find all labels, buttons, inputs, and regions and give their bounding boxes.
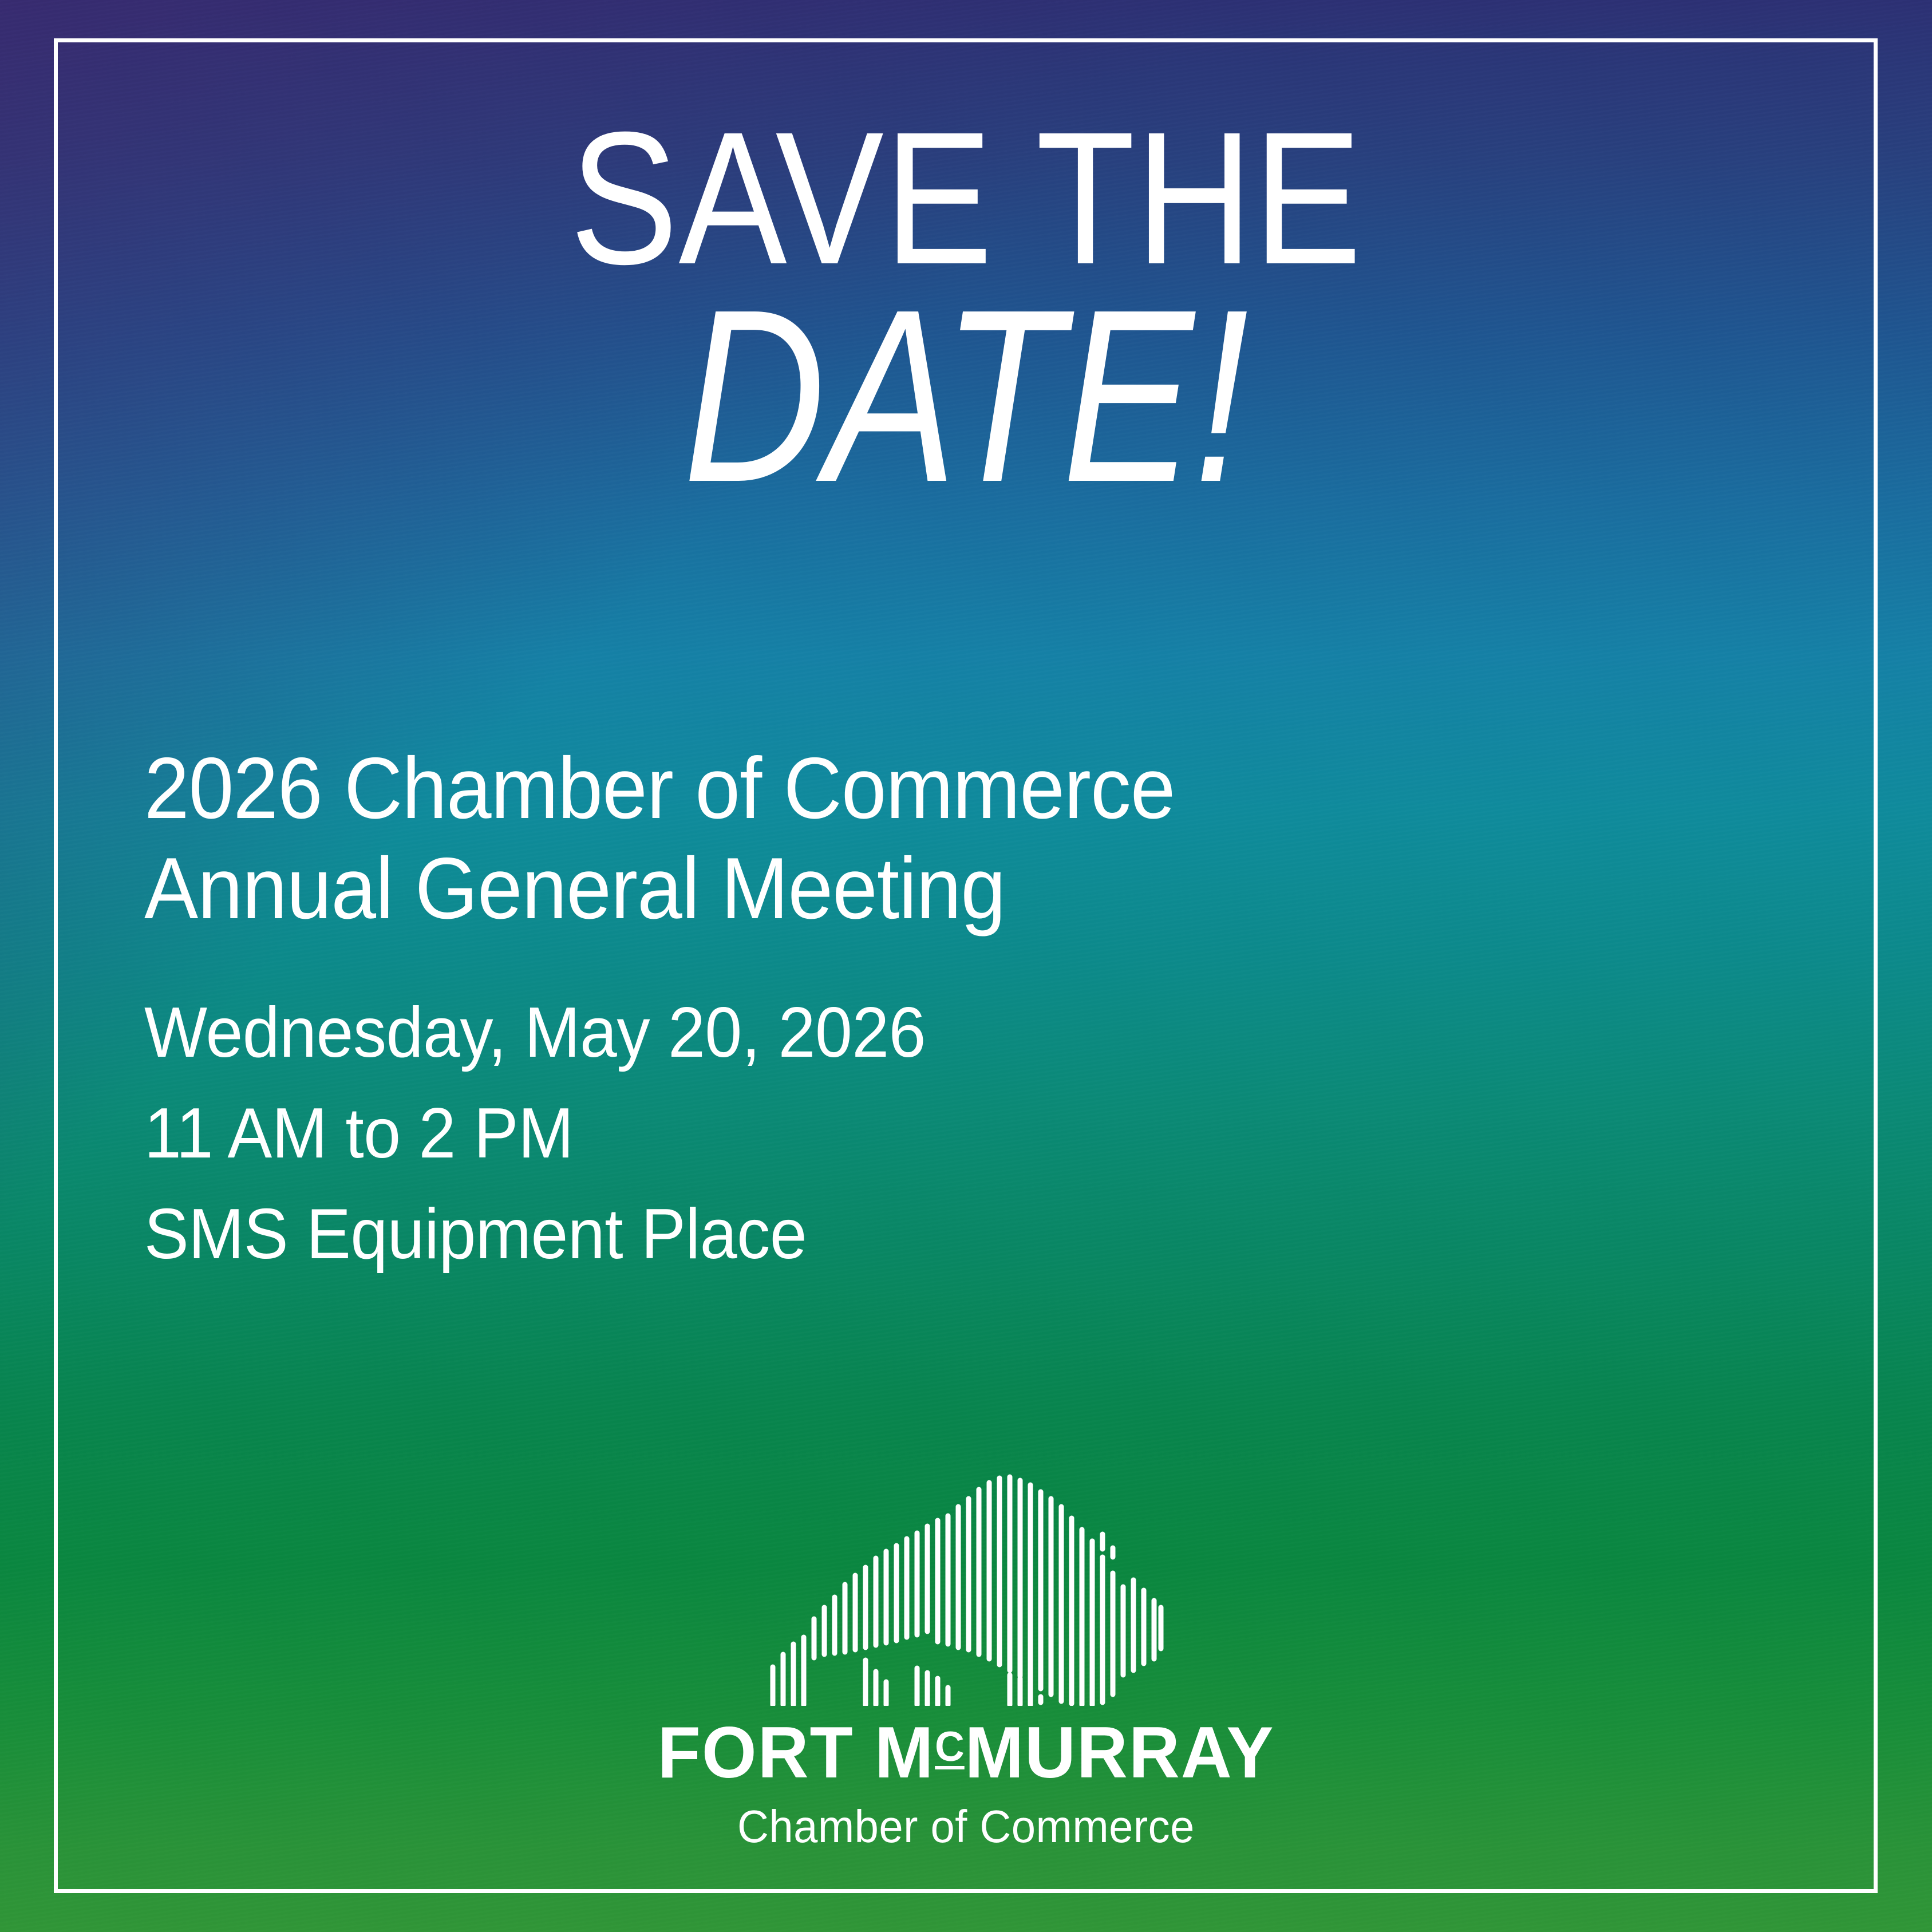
event-info-block: 2026 Chamber of Commerce Annual General … xyxy=(144,738,1253,1285)
logo-wordmark: FORT MCMURRAY xyxy=(658,1716,1275,1789)
event-title-line-2: Annual General Meeting xyxy=(144,839,1175,939)
save-the-date-poster: SAVE THE DATE! 2026 Chamber of Commerce … xyxy=(0,0,1932,1932)
bison-line-art-icon xyxy=(760,1465,1172,1706)
event-venue: SMS Equipment Place xyxy=(144,1184,1186,1285)
event-date: Wednesday, May 20, 2026 xyxy=(144,982,1186,1083)
logo-subline: Chamber of Commerce xyxy=(737,1804,1195,1850)
headline-block: SAVE THE DATE! xyxy=(0,106,1932,517)
event-details: Wednesday, May 20, 2026 11 AM to 2 PM SM… xyxy=(144,982,1186,1285)
logo-wordmark-suffix: MURRAY xyxy=(965,1712,1274,1793)
logo-wordmark-prefix: FORT M xyxy=(658,1712,935,1793)
event-time: 11 AM to 2 PM xyxy=(144,1083,1186,1184)
organization-logo-block: FORT MCMURRAY Chamber of Commerce xyxy=(0,1465,1932,1850)
event-title-line-1: 2026 Chamber of Commerce xyxy=(144,738,1175,839)
event-title: 2026 Chamber of Commerce Annual General … xyxy=(144,738,1175,939)
logo-wordmark-superscript-c: C xyxy=(934,1722,965,1770)
headline-line-date: DATE! xyxy=(193,276,1739,517)
